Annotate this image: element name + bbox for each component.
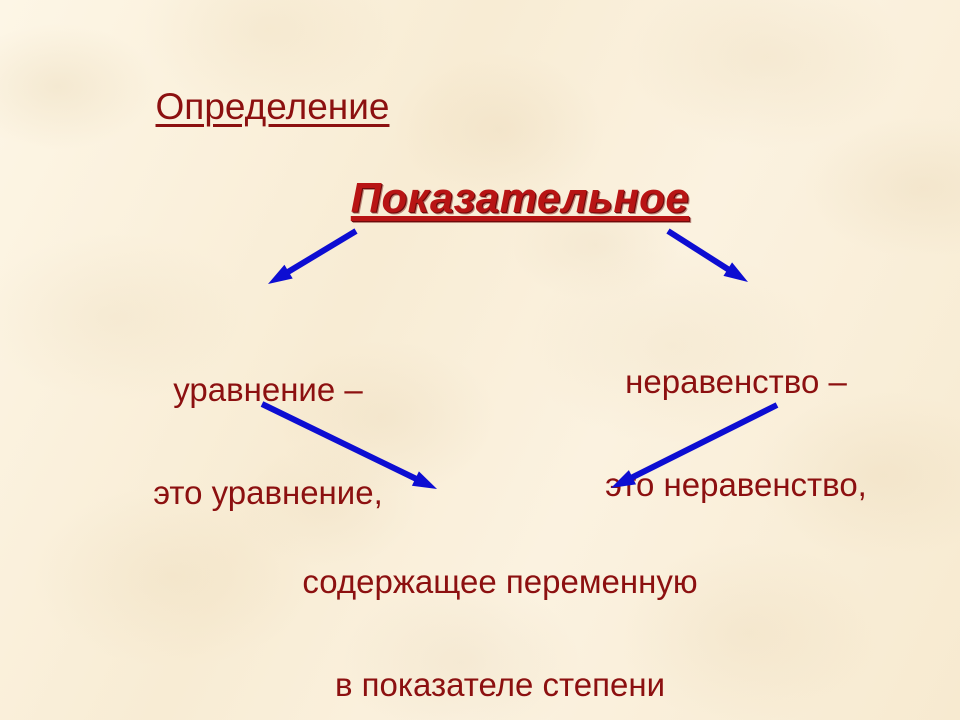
branch-inequality-line-1: неравенство –	[552, 365, 920, 399]
slide-canvas: Определение Показательное уравнение – эт…	[0, 0, 960, 720]
arrow-headline-to-inequality-shaft	[668, 231, 733, 272]
branch-equation-line-1: уравнение –	[88, 373, 448, 407]
conclusion-text: содержащее переменную в показателе степе…	[170, 496, 830, 720]
conclusion-line-2: в показателе степени	[170, 668, 830, 702]
headline-pokazatelnoe: Показательное	[0, 176, 960, 220]
arrow-headline-to-inequality-head	[723, 262, 748, 282]
arrow-headline-to-equation-shaft	[283, 231, 356, 275]
arrow-headline-to-equation-head	[268, 265, 293, 284]
conclusion-line-1: содержащее переменную	[170, 565, 830, 599]
definition-label: Определение	[0, 88, 545, 126]
